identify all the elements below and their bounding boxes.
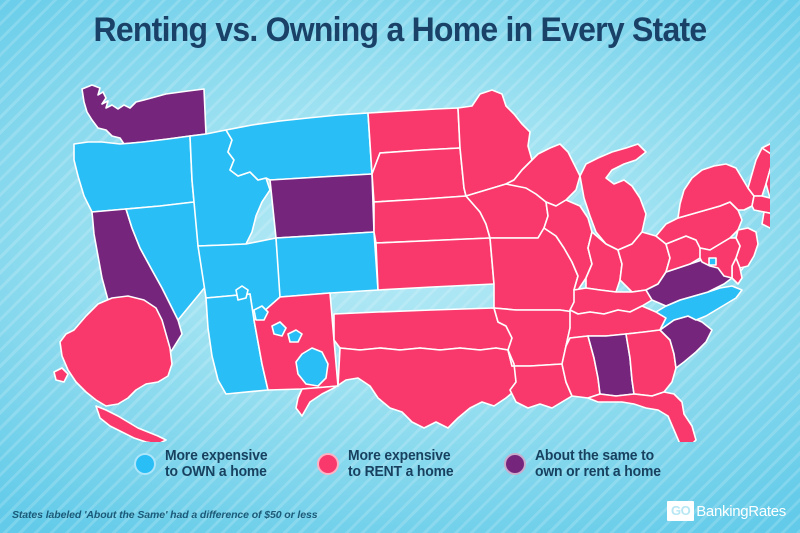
legend-swatch-rent-icon: [317, 453, 339, 475]
state-georgia[interactable]: [626, 330, 676, 396]
state-wyoming[interactable]: [270, 174, 374, 238]
state-connecticut[interactable]: [762, 212, 770, 228]
map-legend: More expensive to OWN a home More expens…: [0, 448, 800, 480]
map-svg: [40, 72, 770, 442]
title-bar: Renting vs. Owning a Home in Every State: [0, 12, 800, 49]
state-kansas[interactable]: [376, 238, 494, 290]
state-oklahoma[interactable]: [334, 308, 512, 350]
state-district-of-columbia[interactable]: [709, 258, 716, 265]
legend-swatch-same-icon: [504, 453, 526, 475]
legend-label-rent: More expensive to RENT a home: [348, 448, 453, 480]
state-alaska[interactable]: [54, 296, 172, 442]
infographic-canvas: Renting vs. Owning a Home in Every State: [0, 0, 800, 533]
state-montana[interactable]: [226, 113, 372, 180]
legend-item-rent[interactable]: More expensive to RENT a home: [317, 448, 458, 480]
us-choropleth-map: [40, 72, 770, 442]
legend-swatch-own-icon: [134, 453, 156, 475]
brand-name: BankingRates: [696, 504, 786, 519]
legend-item-own[interactable]: More expensive to OWN a home: [134, 448, 272, 480]
brand-mark-icon: GO: [667, 501, 694, 521]
brand-logo: GO BankingRates: [667, 501, 786, 521]
legend-label-same: About the same to own or rent a home: [535, 448, 661, 480]
page-title: Renting vs. Owning a Home in Every State: [94, 12, 707, 49]
legend-item-same[interactable]: About the same to own or rent a home: [504, 448, 666, 480]
state-florida[interactable]: [588, 392, 696, 442]
footnote: States labeled 'About the Same' had a di…: [12, 509, 317, 521]
state-massachusetts[interactable]: [752, 196, 770, 214]
state-colorado[interactable]: [276, 232, 378, 297]
state-oregon[interactable]: [74, 136, 194, 212]
state-washington[interactable]: [82, 85, 206, 144]
state-southdakota[interactable]: [372, 148, 466, 202]
legend-label-own: More expensive to OWN a home: [165, 448, 267, 480]
